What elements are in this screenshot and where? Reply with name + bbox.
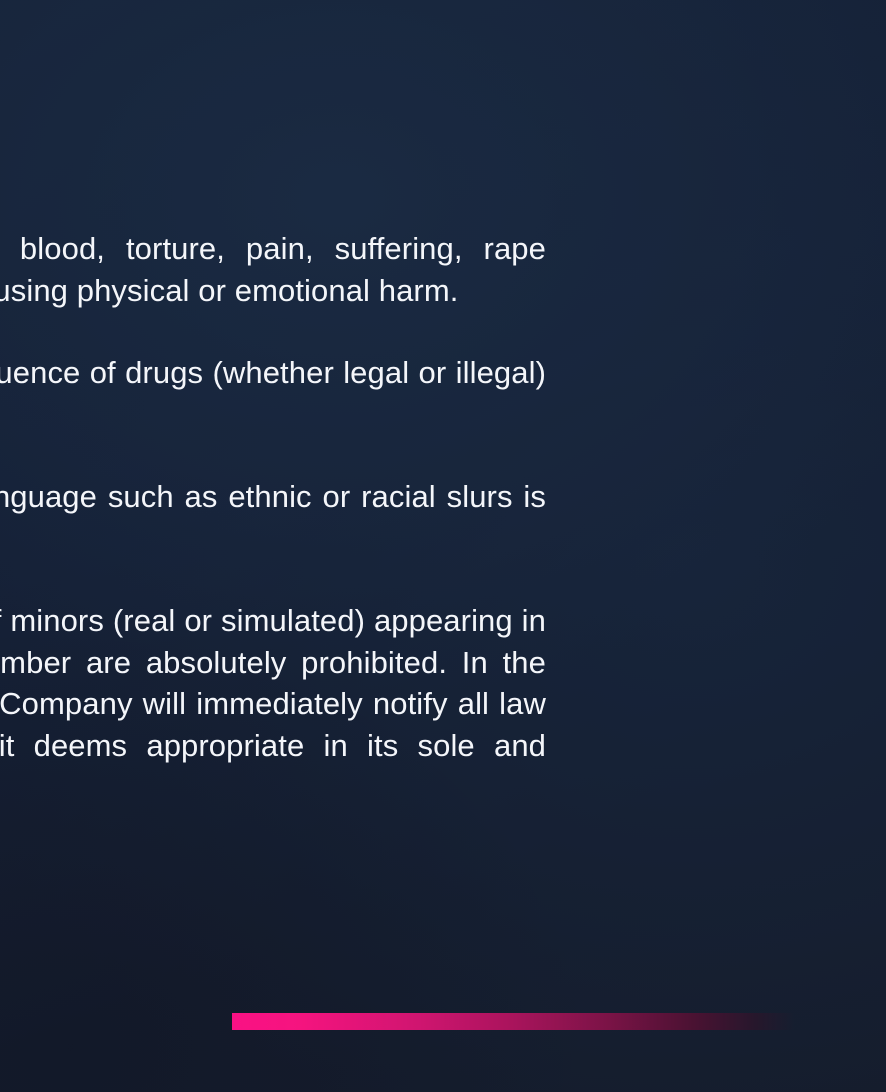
body-copy: Depictions of violence, blood, torture, … [0, 228, 546, 808]
slide-canvas: menu Depictions of violence, blood, tort… [0, 0, 886, 1092]
paragraph-2: Appearing under the influence of drugs (… [0, 352, 546, 435]
paragraph-4: Any and all depictions of minors (real o… [0, 600, 546, 808]
accent-bar [232, 1013, 795, 1030]
paragraph-1: Depictions of violence, blood, torture, … [0, 228, 546, 311]
page-title: menu [0, 66, 546, 162]
paragraph-3: Use of discriminatory language such as e… [0, 476, 546, 559]
